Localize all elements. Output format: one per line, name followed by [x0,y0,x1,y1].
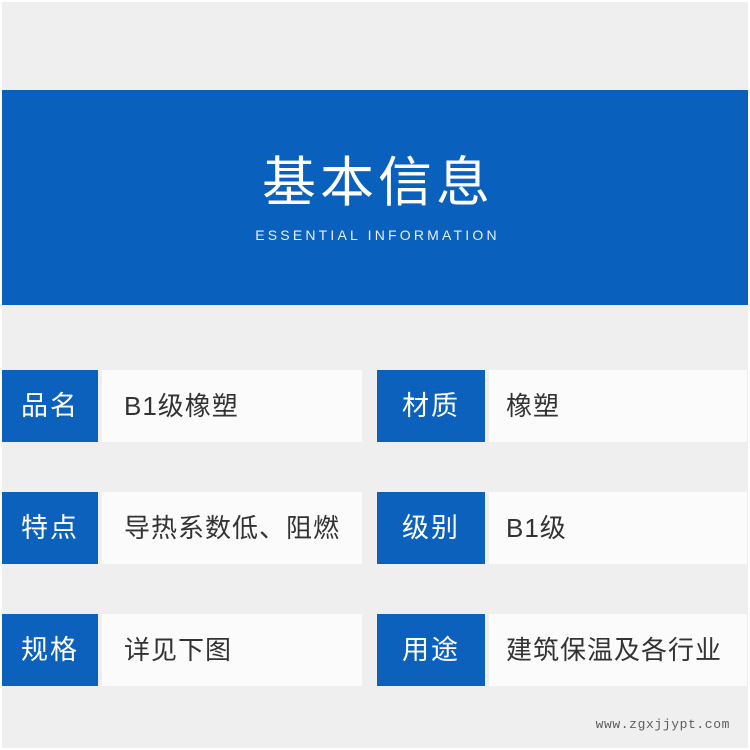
hero-banner: 基本信息 ESSENTIAL INFORMATION [2,90,750,305]
spec-cell-jibie: 级别 B1级 [377,492,747,564]
spec-key-label: 规格 [2,614,98,686]
page-subtitle: ESSENTIAL INFORMATION [252,227,500,243]
spec-cell-pinming: 品名 B1级橡塑 [2,370,362,442]
spec-key-label: 用途 [377,614,485,686]
spec-value-text: 建筑保温及各行业 [485,614,747,686]
site-watermark: www.zgxjjypt.com [596,717,730,732]
table-row: 品名 B1级橡塑 材质 橡塑 [2,370,750,442]
product-info-page: 基本信息 ESSENTIAL INFORMATION 品名 B1级橡塑 材质 橡… [0,0,750,750]
spec-cell-yongtu: 用途 建筑保温及各行业 [377,614,747,686]
page-title: 基本信息 [258,152,494,216]
spec-key-label: 级别 [377,492,485,564]
spec-value-text: 橡塑 [485,370,747,442]
spec-value-text: 详见下图 [98,614,362,686]
spec-key-label: 材质 [377,370,485,442]
spec-key-label: 特点 [2,492,98,564]
spec-value-text: B1级橡塑 [98,370,362,442]
table-row: 规格 详见下图 用途 建筑保温及各行业 [2,614,750,686]
spec-cell-tedian: 特点 导热系数低、阻燃 [2,492,362,564]
spec-table: 品名 B1级橡塑 材质 橡塑 特点 导热系数低、阻燃 级别 B1级 规格 详见下… [2,370,750,736]
spec-key-label: 品名 [2,370,98,442]
spec-value-text: B1级 [485,492,747,564]
spec-value-text: 导热系数低、阻燃 [98,492,362,564]
spec-cell-caizhi: 材质 橡塑 [377,370,747,442]
table-row: 特点 导热系数低、阻燃 级别 B1级 [2,492,750,564]
spec-cell-guige: 规格 详见下图 [2,614,362,686]
